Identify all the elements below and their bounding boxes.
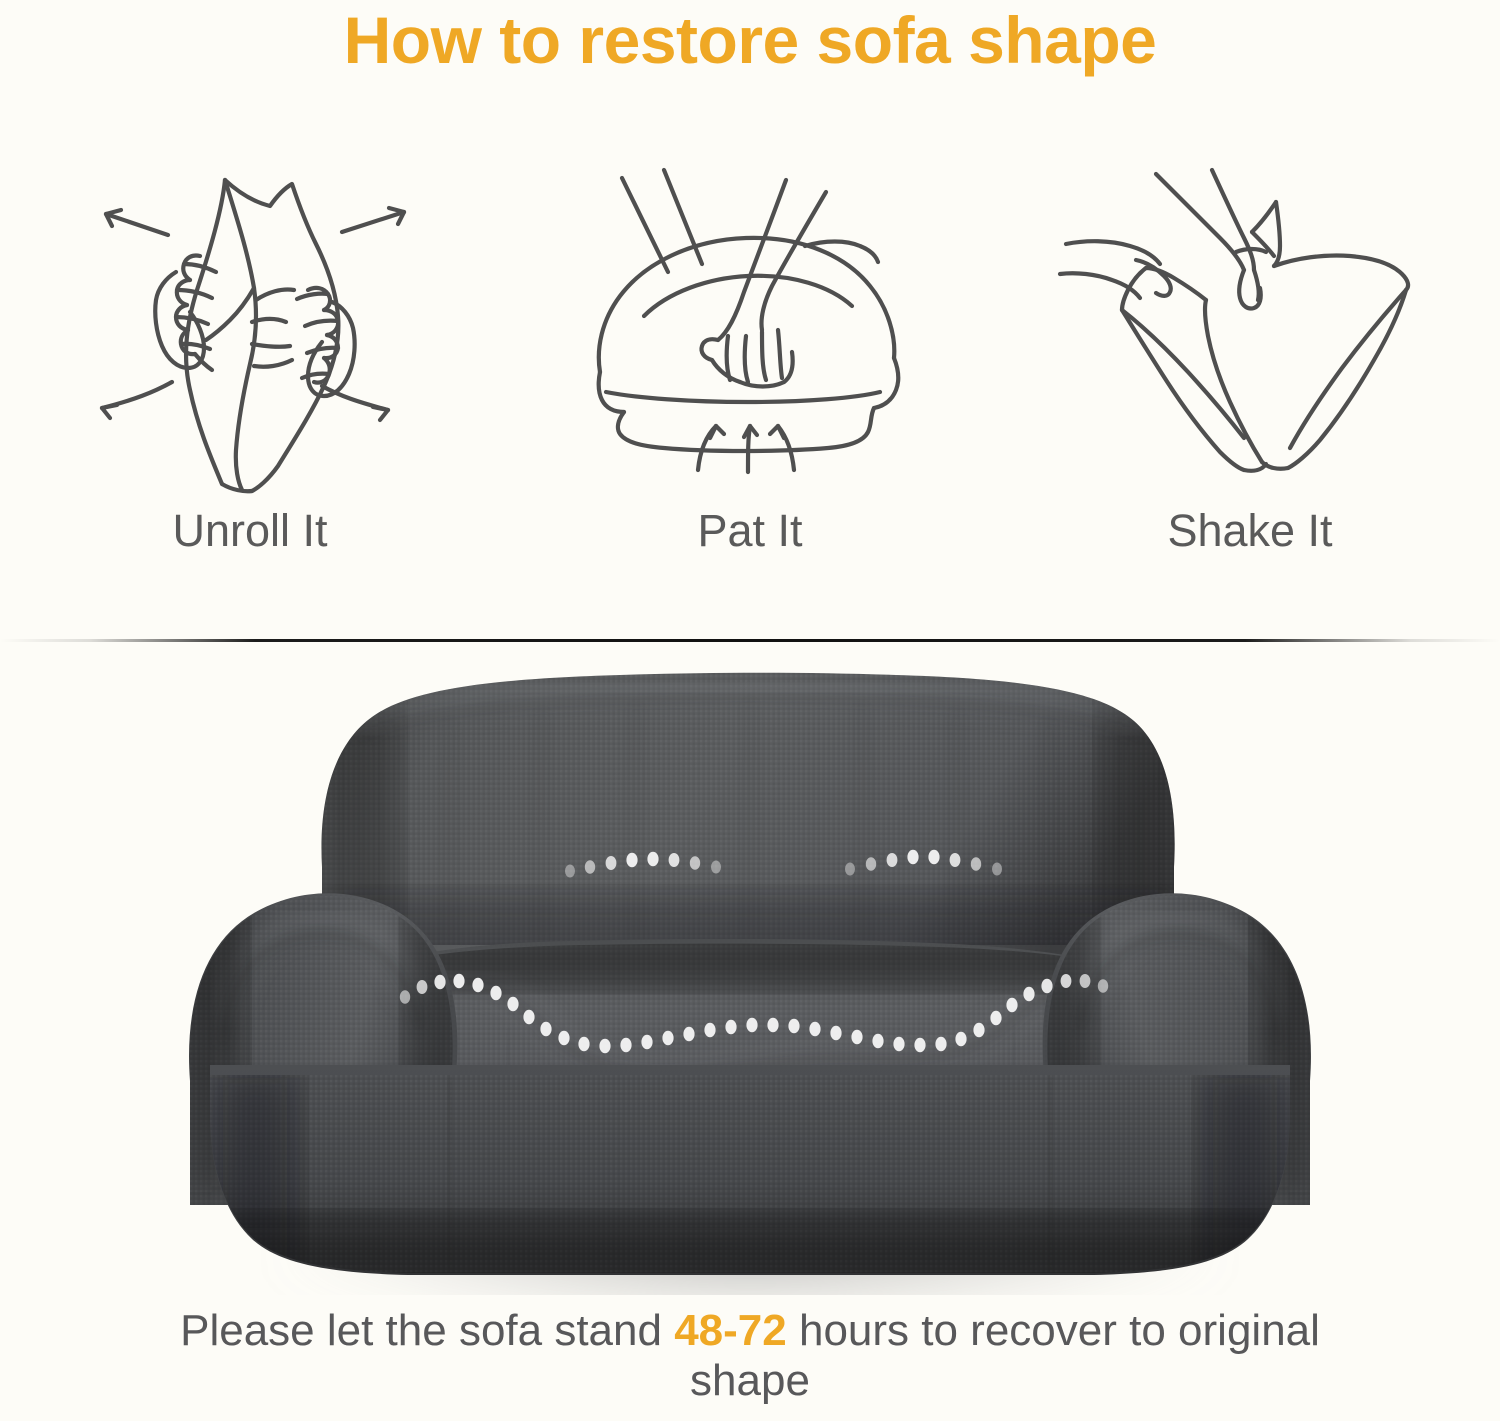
step-label: Shake It [1167, 508, 1332, 553]
step-shake-it: Shake It [1020, 140, 1480, 553]
steps-row: Unroll It [0, 140, 1500, 610]
recovery-time-caption: Please let the sofa stand 48-72 hours to… [0, 1306, 1500, 1406]
page-title: How to restore sofa shape [0, 4, 1500, 78]
infographic-root: How to restore sofa shape [0, 0, 1500, 1421]
step-pat-it: Pat It [520, 140, 980, 553]
step-label: Unroll It [172, 508, 327, 553]
sofa-base [190, 1045, 1320, 1285]
step-unroll-it: Unroll It [20, 140, 480, 553]
gray-fabric-sofa-image [150, 645, 1350, 1295]
caption-highlight-hours: 48-72 [674, 1306, 787, 1355]
step-label: Pat It [697, 508, 802, 553]
pat-cushion-icon [540, 140, 960, 500]
product-photo-block [0, 645, 1500, 1295]
unroll-cloth-icon [40, 140, 460, 500]
caption-text-before: Please let the sofa stand [180, 1306, 674, 1355]
section-divider [0, 639, 1500, 642]
shake-cloth-icon [1040, 140, 1460, 500]
